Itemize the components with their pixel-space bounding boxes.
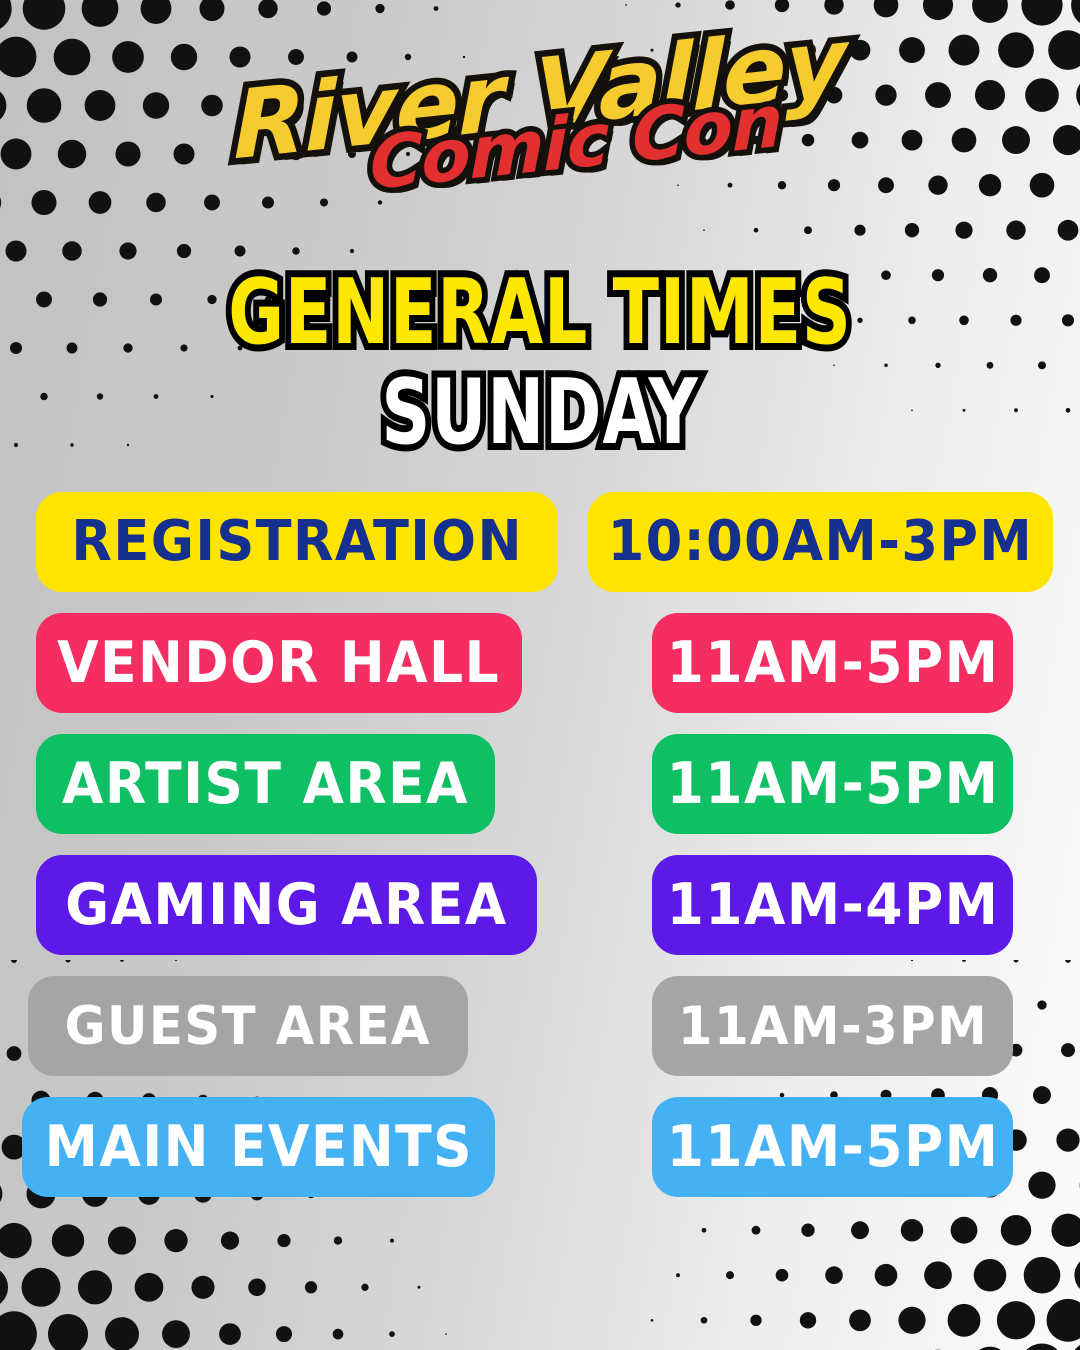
schedule-area-pill: GUEST AREA: [28, 976, 468, 1076]
schedule-row: GUEST AREA11AM-3PM: [0, 976, 1080, 1076]
schedule-list: REGISTRATION10:00AM-3PMVENDOR HALL11AM-5…: [0, 492, 1080, 1218]
schedule-time-pill: 11AM-5PM: [652, 734, 1013, 834]
schedule-area-pill: ARTIST AREA: [36, 734, 495, 834]
schedule-time-pill: 11AM-5PM: [652, 613, 1013, 713]
schedule-time-value: 11AM-5PM: [666, 756, 999, 813]
schedule-row: MAIN EVENTS11AM-5PM: [0, 1097, 1080, 1197]
schedule-area-pill: VENDOR HALL: [36, 613, 522, 713]
schedule-area-label: REGISTRATION: [71, 514, 523, 570]
schedule-time-value: 11AM-3PM: [677, 1000, 987, 1053]
schedule-area-pill: MAIN EVENTS: [22, 1097, 495, 1197]
schedule-time-value: 10:00AM-3PM: [608, 514, 1034, 570]
schedule-time-pill: 10:00AM-3PM: [588, 492, 1053, 592]
schedule-row: ARTIST AREA11AM-5PM: [0, 734, 1080, 834]
schedule-area-label: GUEST AREA: [65, 1000, 431, 1053]
headings-block: GENERAL TIMES SUNDAY: [0, 268, 1080, 461]
schedule-time-pill: 11AM-5PM: [652, 1097, 1013, 1197]
schedule-time-value: 11AM-5PM: [666, 1119, 999, 1176]
schedule-area-label: ARTIST AREA: [62, 756, 469, 813]
schedule-row: REGISTRATION10:00AM-3PM: [0, 492, 1080, 592]
schedule-row: VENDOR HALL11AM-5PM: [0, 613, 1080, 713]
schedule-row: GAMING AREA11AM-4PM: [0, 855, 1080, 955]
schedule-area-pill: GAMING AREA: [36, 855, 537, 955]
schedule-time-value: 11AM-4PM: [666, 877, 999, 934]
event-logo: River Valley Comic Con: [0, 52, 1080, 207]
schedule-time-value: 11AM-5PM: [666, 635, 999, 692]
day-subtitle: SUNDAY: [86, 366, 993, 461]
schedule-time-pill: 11AM-4PM: [652, 855, 1013, 955]
page-title: GENERAL TIMES: [86, 268, 993, 358]
schedule-area-pill: REGISTRATION: [36, 492, 558, 592]
schedule-time-pill: 11AM-3PM: [652, 976, 1013, 1076]
schedule-area-label: GAMING AREA: [65, 877, 507, 934]
schedule-area-label: MAIN EVENTS: [44, 1119, 472, 1176]
comic-con-schedule-poster: River Valley Comic Con GENERAL TIMES SUN…: [0, 0, 1080, 1350]
schedule-area-label: VENDOR HALL: [58, 635, 501, 692]
